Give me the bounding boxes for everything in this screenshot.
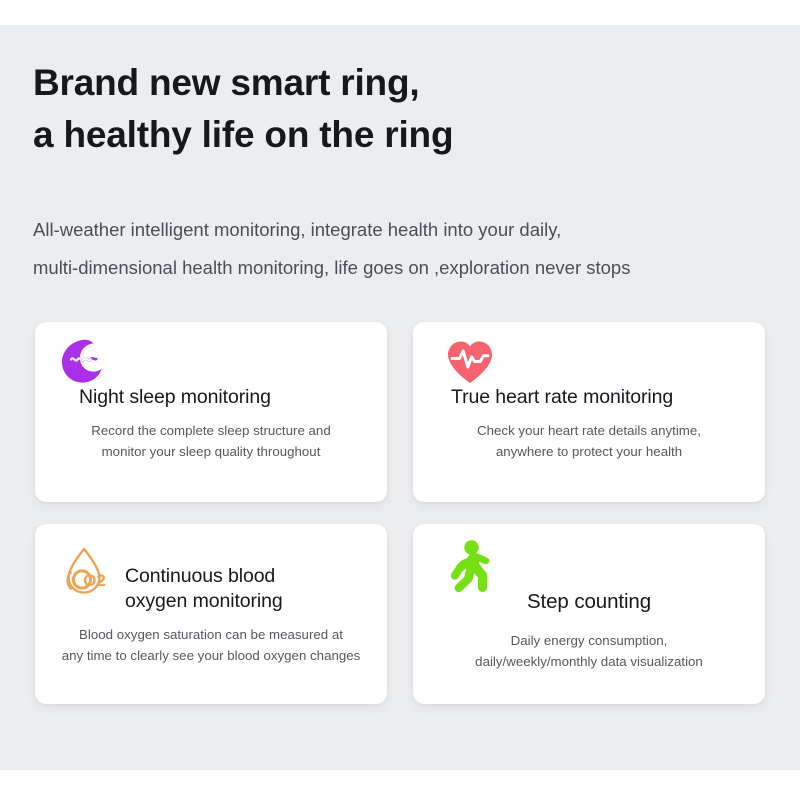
o2-label: O2	[83, 571, 106, 590]
feature-title: Step counting	[413, 590, 765, 614]
feature-description: Record the complete sleep structure and …	[35, 420, 387, 462]
feature-title-line-1: Continuous blood	[125, 564, 283, 589]
feature-title: Continuous blood oxygen monitoring	[125, 564, 283, 614]
blood-drop-o2-icon: O2	[57, 544, 113, 600]
feature-card-step-counting[interactable]: Step counting Daily energy consumption, …	[413, 524, 765, 704]
feature-title: True heart rate monitoring	[451, 385, 673, 409]
feature-title: Night sleep monitoring	[79, 385, 271, 409]
feature-desc-line-2: monitor your sleep quality throughout	[35, 441, 387, 462]
feature-desc-line-2: daily/weekly/monthly data visualization	[413, 651, 765, 672]
page-title: Brand new smart ring, a healthy life on …	[33, 57, 753, 161]
feature-desc-line-2: any time to clearly see your blood oxyge…	[35, 645, 387, 666]
feature-card-grid: Night sleep monitoring Record the comple…	[35, 322, 765, 704]
feature-desc-line-1: Daily energy consumption,	[413, 630, 765, 651]
feature-desc-line-1: Check your heart rate details anytime,	[413, 420, 765, 441]
subtitle-line-2: multi-dimensional health monitoring, lif…	[33, 249, 773, 287]
headline-line-1: Brand new smart ring,	[33, 57, 753, 109]
running-person-icon	[438, 538, 494, 596]
crescent-moon-icon	[57, 338, 111, 388]
page-subtitle: All-weather intelligent monitoring, inte…	[33, 211, 773, 287]
promo-page: Brand new smart ring, a healthy life on …	[0, 0, 800, 800]
feature-desc-line-2: anywhere to protect your health	[413, 441, 765, 462]
feature-desc-line-1: Record the complete sleep structure and	[35, 420, 387, 441]
subtitle-line-1: All-weather intelligent monitoring, inte…	[33, 211, 773, 249]
feature-card-heart-rate[interactable]: True heart rate monitoring Check your he…	[413, 322, 765, 502]
feature-description: Daily energy consumption, daily/weekly/m…	[413, 630, 765, 672]
headline-line-2: a healthy life on the ring	[33, 109, 753, 161]
feature-card-blood-oxygen[interactable]: O2 Continuous blood oxygen monitoring Bl…	[35, 524, 387, 704]
feature-description: Check your heart rate details anytime, a…	[413, 420, 765, 462]
heart-pulse-icon	[445, 338, 495, 386]
feature-description: Blood oxygen saturation can be measured …	[35, 624, 387, 666]
feature-card-night-sleep[interactable]: Night sleep monitoring Record the comple…	[35, 322, 387, 502]
feature-title-line-2: oxygen monitoring	[125, 589, 283, 614]
feature-desc-line-1: Blood oxygen saturation can be measured …	[35, 624, 387, 645]
